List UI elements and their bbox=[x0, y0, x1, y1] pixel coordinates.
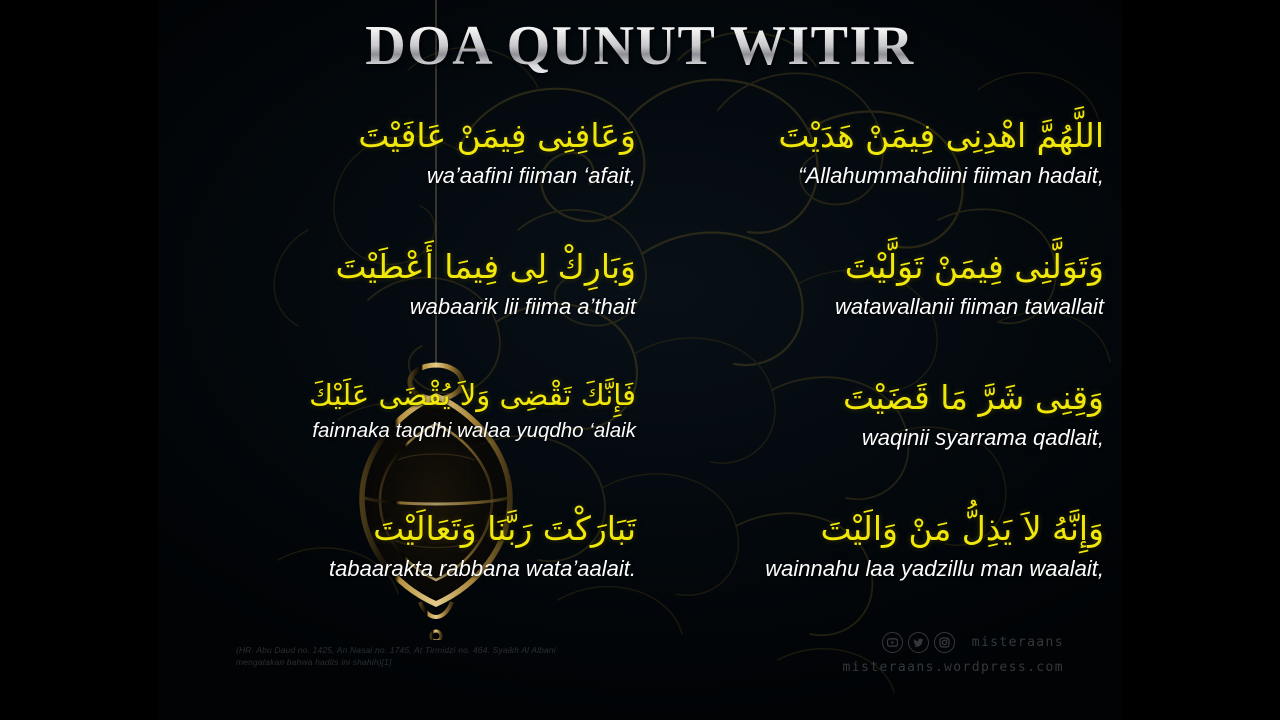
arabic-text: وَقِنِى شَرَّ مَا قَضَيْتَ bbox=[644, 374, 1104, 422]
arabic-text: وَعَافِنِى فِيمَنْ عَافَيْتَ bbox=[172, 112, 636, 160]
slide-content-area: .sw { fill:none; stroke:#6b5a22; stroke-… bbox=[158, 0, 1122, 720]
arabic-text: تَبَارَكْتَ رَبَّنَا وَتَعَالَيْتَ bbox=[172, 505, 636, 553]
verse-cell-left: تَبَارَكْتَ رَبَّنَا وَتَعَالَيْتَ tabaa… bbox=[158, 505, 640, 582]
verse-cell-left: وَعَافِنِى فِيمَنْ عَافَيْتَ wa’aafini f… bbox=[158, 112, 640, 189]
verse-cell-right: وَإِنَّهُ لاَ يَذِلُّ مَنْ وَالَيْتَ wai… bbox=[640, 505, 1122, 582]
transliteration-text: tabaarakta rabbana wata’aalait. bbox=[172, 555, 636, 583]
arabic-text: وَإِنَّهُ لاَ يَذِلُّ مَنْ وَالَيْتَ bbox=[644, 505, 1104, 553]
transliteration-text: watawallanii fiiman tawallait bbox=[644, 293, 1104, 321]
hadith-source-footnote: (HR. Abu Daud no. 1425, An Nasai no. 174… bbox=[236, 644, 566, 669]
verse-cell-right: وَتَوَلَّنِى فِيمَنْ تَوَلَّيْتَ watawal… bbox=[640, 243, 1122, 320]
verse-cell-left: فَإِنَّكَ تَقْضِى وَلاَ يُقْضَى عَلَيْكَ… bbox=[158, 374, 640, 444]
verse-row: وَبَارِكْ لِى فِيمَا أَعْطَيْتَ wabaarik… bbox=[158, 243, 1122, 374]
social-row: misteraans bbox=[843, 632, 1064, 653]
transliteration-text: wabaarik lii fiima a’thait bbox=[172, 293, 636, 321]
transliteration-text: wa’aafini fiiman ‘afait, bbox=[172, 162, 636, 190]
transliteration-text: “Allahummahdiini fiiman hadait, bbox=[644, 162, 1104, 190]
verse-row: وَعَافِنِى فِيمَنْ عَافَيْتَ wa’aafini f… bbox=[158, 112, 1122, 243]
transliteration-text: wainnahu laa yadzillu man waalait, bbox=[644, 555, 1104, 583]
arabic-text: اللَّهُمَّ اهْدِنِى فِيمَنْ هَدَيْتَ bbox=[644, 112, 1104, 160]
page-title: DOA QUNUT WITIR bbox=[158, 16, 1122, 78]
letterbox-bar-right bbox=[1122, 0, 1280, 720]
website-url: misteraans.wordpress.com bbox=[843, 660, 1064, 675]
letterbox-bar-left bbox=[0, 0, 158, 720]
social-handle: misteraans bbox=[972, 635, 1064, 650]
slide-canvas: .sw { fill:none; stroke:#6b5a22; stroke-… bbox=[0, 0, 1280, 720]
verse-grid: وَعَافِنِى فِيمَنْ عَافَيْتَ wa’aafini f… bbox=[158, 112, 1122, 636]
arabic-text: فَإِنَّكَ تَقْضِى وَلاَ يُقْضَى عَلَيْكَ bbox=[172, 374, 636, 416]
credit-block: misteraans misteraans.wordpress.com bbox=[843, 632, 1064, 675]
verse-row: فَإِنَّكَ تَقْضِى وَلاَ يُقْضَى عَلَيْكَ… bbox=[158, 374, 1122, 505]
instagram-icon[interactable] bbox=[934, 632, 955, 653]
social-icons bbox=[882, 632, 955, 653]
arabic-text: وَبَارِكْ لِى فِيمَا أَعْطَيْتَ bbox=[172, 243, 636, 291]
verse-cell-right: اللَّهُمَّ اهْدِنِى فِيمَنْ هَدَيْتَ “Al… bbox=[640, 112, 1122, 189]
arabic-text: وَتَوَلَّنِى فِيمَنْ تَوَلَّيْتَ bbox=[644, 243, 1104, 291]
youtube-icon[interactable] bbox=[882, 632, 903, 653]
twitter-icon[interactable] bbox=[908, 632, 929, 653]
verse-cell-left: وَبَارِكْ لِى فِيمَا أَعْطَيْتَ wabaarik… bbox=[158, 243, 640, 320]
verse-cell-right: وَقِنِى شَرَّ مَا قَضَيْتَ waqinii syarr… bbox=[640, 374, 1122, 451]
transliteration-text: waqinii syarrama qadlait, bbox=[644, 424, 1104, 452]
verse-row: تَبَارَكْتَ رَبَّنَا وَتَعَالَيْتَ tabaa… bbox=[158, 505, 1122, 636]
transliteration-text: fainnaka taqdhi walaa yuqdho ‘alaik bbox=[172, 418, 636, 444]
